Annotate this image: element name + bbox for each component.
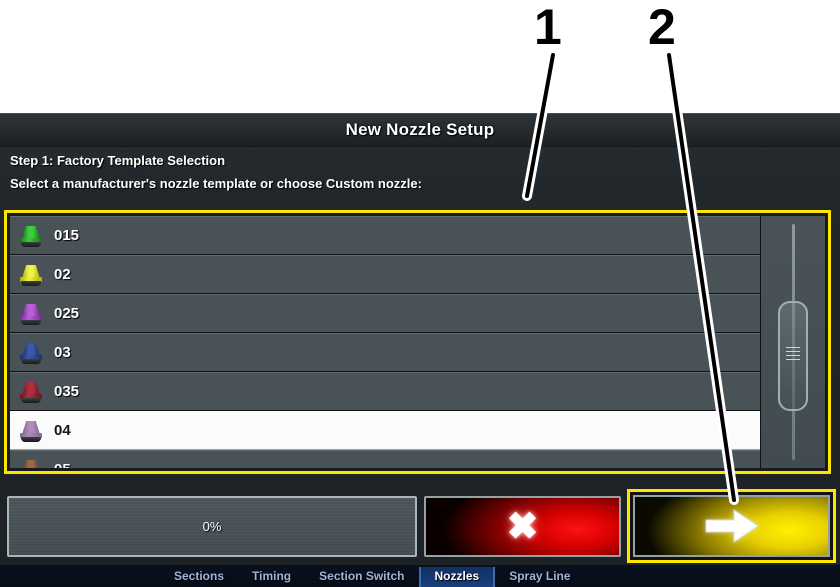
nozzle-cap-icon [18,379,44,405]
nozzle-list-item[interactable]: 04 [10,411,760,450]
window-title-bar: New Nozzle Setup [0,114,840,147]
nozzle-cap-icon [18,340,44,366]
page-title: New Nozzle Setup [346,120,495,140]
nozzle-list-item-label: 02 [54,266,71,283]
action-button-row: 0% ✖ [0,486,840,565]
nozzle-list-item[interactable]: 015 [10,216,760,255]
nozzle-cap-icon [18,223,44,249]
callout-number-1: 1 [534,2,561,52]
nozzle-setup-window: New Nozzle Setup Step 1: Factory Templat… [0,113,840,565]
nozzle-list-item-label: 035 [54,383,79,400]
nav-tab-timing[interactable]: Timing [238,567,305,587]
list-scrollbar[interactable] [760,216,825,468]
bottom-nav-bar[interactable]: SectionsTimingSection SwitchNozzlesSpray… [0,565,840,587]
next-button-highlight [627,489,836,563]
nozzle-list-item-label: 015 [54,227,79,244]
nozzle-list-item-label: 03 [54,344,71,361]
nozzle-list-item-label: 025 [54,305,79,322]
nozzle-list-item-label: 05 [54,461,71,468]
nav-tab-nozzles[interactable]: Nozzles [419,567,496,587]
scrollbar-thumb[interactable] [778,301,808,411]
nav-tab-section-switch[interactable]: Section Switch [305,567,418,587]
close-x-icon: ✖ [507,508,539,546]
cancel-button[interactable]: ✖ [424,496,621,557]
progress-bar: 0% [7,496,417,557]
nozzle-list-item[interactable]: 02 [10,255,760,294]
nozzle-list-item[interactable]: 035 [10,372,760,411]
progress-label: 0% [203,519,222,534]
nozzle-cap-icon [18,418,44,444]
step-header: Step 1: Factory Template Selection Selec… [0,147,840,197]
nozzle-cap-icon [18,262,44,288]
nozzle-list-item-label: 04 [54,422,71,439]
scrollbar-grip-icon [786,347,800,348]
nozzle-list-item[interactable]: 025 [10,294,760,333]
nozzle-template-list[interactable]: 01502025030350405 [10,216,825,468]
nozzle-template-list-highlight: 01502025030350405 [4,210,831,474]
nozzle-cap-icon [18,457,44,469]
nozzle-list-item[interactable]: 03 [10,333,760,372]
callout-number-2: 2 [648,2,675,52]
nozzle-cap-icon [18,301,44,327]
nav-tab-spray-line[interactable]: Spray Line [495,567,584,587]
next-button[interactable] [633,495,830,557]
nav-tab-sections[interactable]: Sections [160,567,238,587]
step-instruction: Select a manufacturer's nozzle template … [10,176,830,191]
step-title: Step 1: Factory Template Selection [10,153,830,168]
nozzle-list-rows[interactable]: 01502025030350405 [10,216,760,468]
nozzle-list-item[interactable]: 05 [10,450,760,468]
arrow-right-icon [704,506,760,546]
